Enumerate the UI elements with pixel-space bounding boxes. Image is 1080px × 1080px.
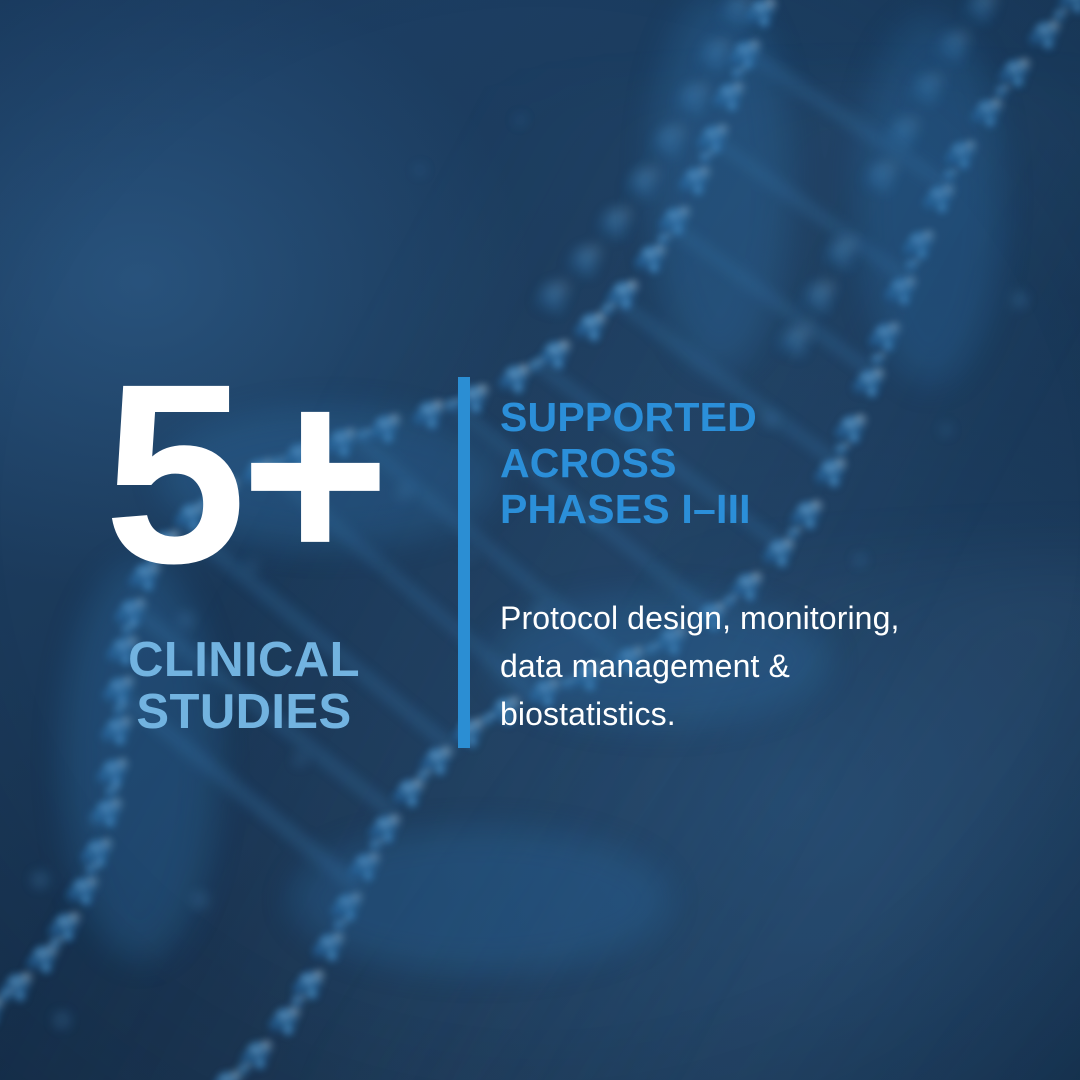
body-copy: Protocol design, monitoring, data manage… [500,532,1000,738]
headline-line-1: SUPPORTED [500,394,1000,440]
card-content: 5+ CLINICAL STUDIES SUPPORTED ACROSS PHA… [0,0,1080,1080]
headline: SUPPORTED ACROSS PHASES I–III [500,394,1000,532]
body-copy-line-3: biostatistics. [500,690,1000,738]
headline-line-3: PHASES I–III [500,486,1000,532]
stat-block: 5+ CLINICAL STUDIES [48,372,440,739]
stat-value: 5+ [48,372,440,577]
body-copy-line-1: Protocol design, monitoring, [500,594,1000,642]
stat-label-line-1: CLINICAL [48,635,440,687]
body-copy-line-2: data management & [500,642,1000,690]
stat-label-line-2: STUDIES [48,687,440,739]
detail-block: SUPPORTED ACROSS PHASES I–III Protocol d… [500,394,1000,738]
stat-card: 5+ CLINICAL STUDIES SUPPORTED ACROSS PHA… [0,0,1080,1080]
headline-line-2: ACROSS [500,440,1000,486]
stat-label: CLINICAL STUDIES [48,635,440,739]
vertical-accent-bar [458,377,470,748]
